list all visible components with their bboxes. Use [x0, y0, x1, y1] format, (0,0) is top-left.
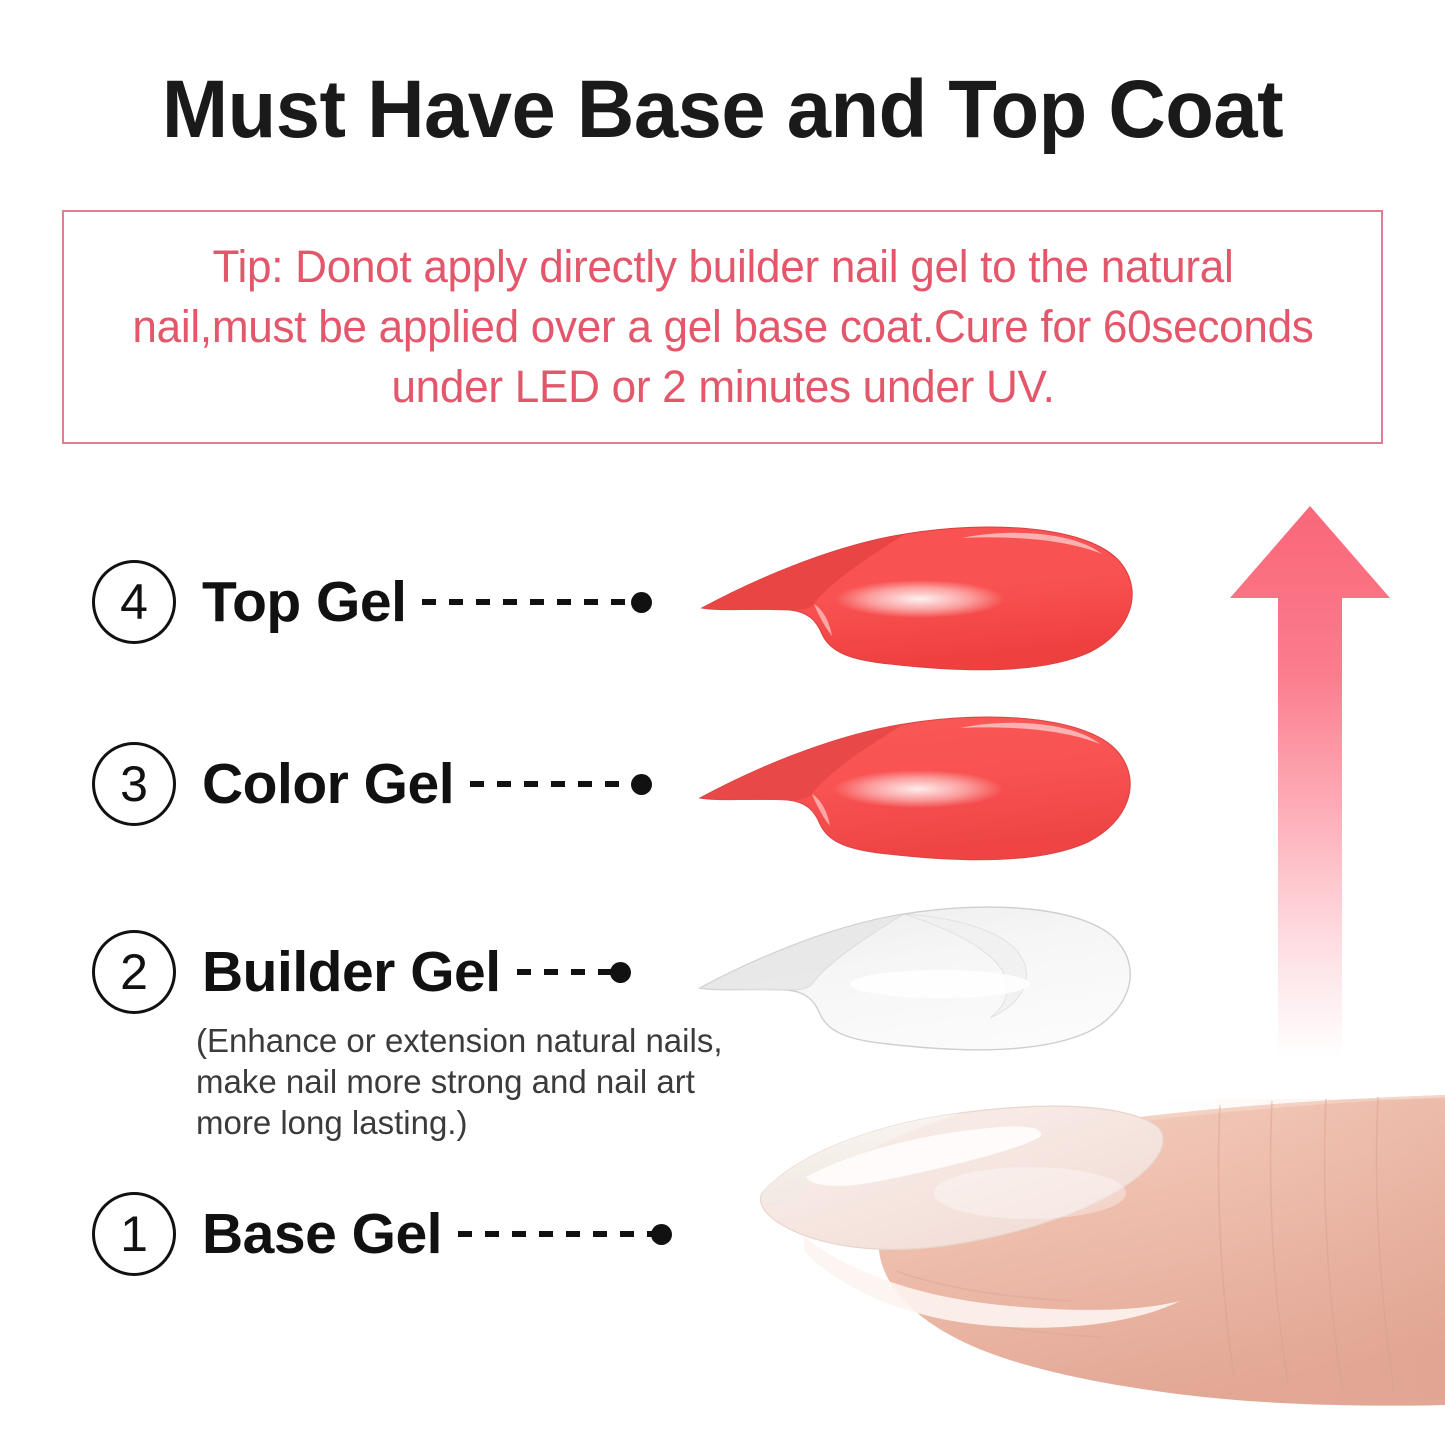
layer-number-badge-3: 3	[92, 742, 176, 826]
layer-label-builder-gel: Builder Gel	[202, 944, 501, 1001]
layer-row-top-gel: 4 Top Gel	[92, 556, 652, 648]
tip-callout-text: Tip: Donot apply directly builder nail g…	[130, 237, 1316, 417]
dashed-line-icon	[458, 1231, 654, 1237]
nail-swatch-color-gel-icon	[690, 700, 1160, 880]
builder-gel-note: (Enhance or extension natural nails, mak…	[196, 1020, 756, 1143]
layer-number-badge-4: 4	[92, 560, 176, 644]
dashed-line-icon	[517, 969, 613, 975]
nail-swatch-top-gel-icon	[690, 512, 1160, 692]
layer-row-color-gel: 3 Color Gel	[92, 738, 652, 830]
page-title: Must Have Base and Top Coat	[22, 62, 1424, 158]
connector-dot-icon	[651, 1224, 672, 1245]
layer-label-top-gel: Top Gel	[202, 574, 406, 631]
connector-dot-icon	[631, 592, 652, 613]
layer-label-color-gel: Color Gel	[202, 756, 454, 813]
layer-number-badge-1: 1	[92, 1192, 176, 1276]
layer-row-base-gel: 1 Base Gel	[92, 1188, 672, 1280]
connector-color-gel	[470, 781, 652, 787]
tip-callout-box: Tip: Donot apply directly builder nail g…	[62, 210, 1383, 444]
connector-dot-icon	[610, 962, 631, 983]
infographic-page: Must Have Base and Top Coat Tip: Donot a…	[0, 0, 1445, 1445]
connector-builder-gel	[517, 969, 631, 975]
layer-row-builder-gel: 2 Builder Gel	[92, 926, 631, 1018]
layer-label-base-gel: Base Gel	[202, 1206, 442, 1263]
dashed-line-icon	[422, 599, 634, 605]
finger-photo	[700, 1075, 1445, 1445]
layer-number-badge-2: 2	[92, 930, 176, 1014]
connector-dot-icon	[631, 774, 652, 795]
dashed-line-icon	[470, 781, 634, 787]
nail-swatch-builder-gel-icon	[690, 892, 1160, 1072]
connector-base-gel	[458, 1231, 672, 1237]
connector-top-gel	[422, 599, 652, 605]
upward-arrow-icon	[1222, 498, 1398, 1068]
